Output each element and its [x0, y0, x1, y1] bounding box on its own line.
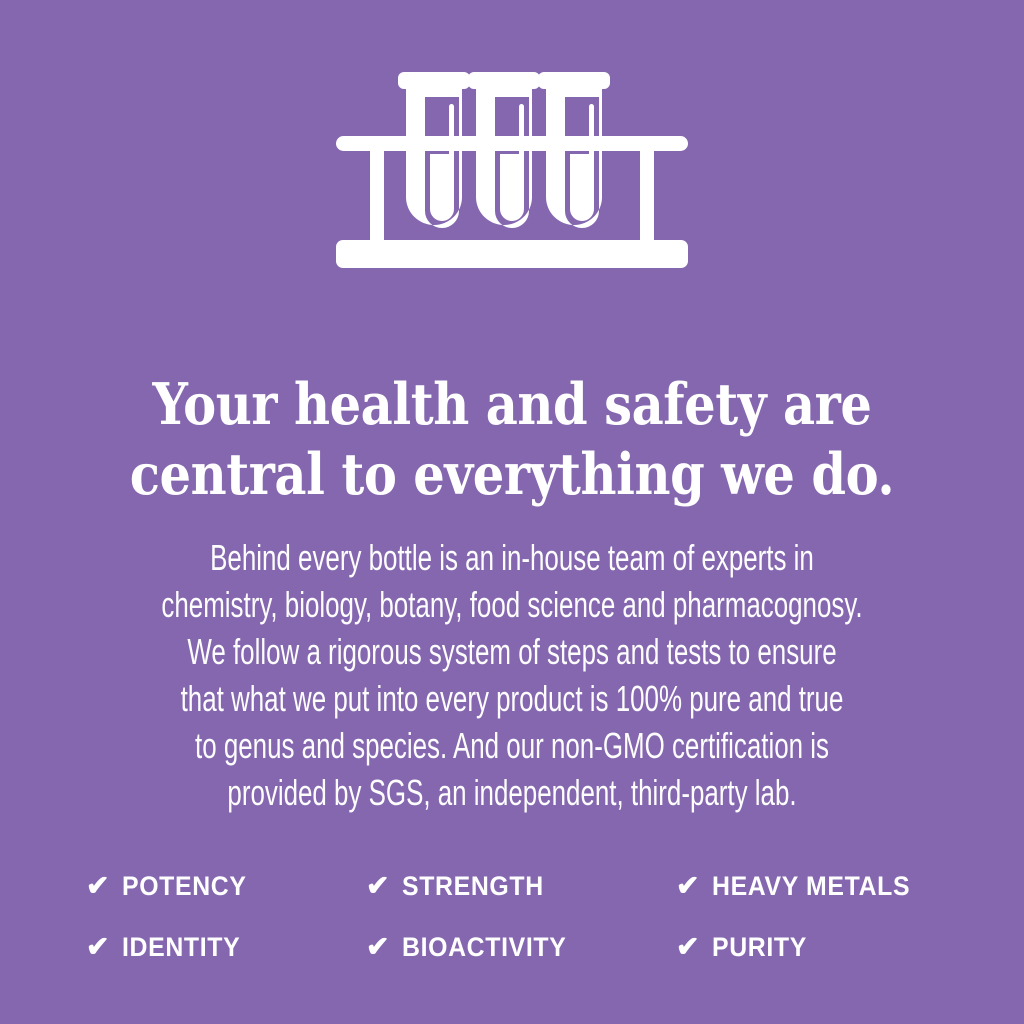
check-icon: ✔ — [676, 933, 699, 961]
checklist-item-bioactivity: ✔ BIOACTIVITY — [366, 932, 676, 963]
body-line-1: Behind every bottle is an in-house team … — [143, 534, 880, 581]
body-line-5: to genus and species. And our non-GMO ce… — [143, 722, 880, 769]
rack-top-rail — [336, 136, 688, 151]
promo-poster: Your health and safety are central to ev… — [0, 0, 1024, 1024]
check-icon: ✔ — [676, 872, 699, 900]
headline-line-2: central to everything we do. — [67, 440, 958, 510]
checklist-label: PURITY — [712, 932, 807, 963]
rack-leg-left — [370, 148, 384, 246]
body-line-2: chemistry, biology, botany, food science… — [143, 581, 880, 628]
check-icon: ✔ — [366, 933, 389, 961]
checklist-label: POTENCY — [122, 871, 247, 902]
body-line-4: that what we put into every product is 1… — [143, 675, 880, 722]
checklist-item-purity: ✔ PURITY — [676, 932, 966, 963]
check-icon: ✔ — [86, 933, 109, 961]
checklist-item-potency: ✔ POTENCY — [86, 871, 366, 902]
checklist-label: HEAVY METALS — [712, 871, 910, 902]
headline-line-1: Your health and safety are — [67, 370, 958, 440]
checklist-label: BIOACTIVITY — [402, 932, 566, 963]
check-icon: ✔ — [366, 872, 389, 900]
checklist-label: STRENGTH — [402, 871, 544, 902]
rack-base — [336, 240, 688, 268]
body-line-3: We follow a rigorous system of steps and… — [143, 628, 880, 675]
test-tube-rack-icon — [332, 62, 692, 268]
checklist-label: IDENTITY — [122, 932, 240, 963]
body-line-6: provided by SGS, an independent, third-p… — [143, 769, 880, 816]
testing-checklist: ✔ POTENCY ✔ STRENGTH ✔ HEAVY METALS ✔ ID… — [86, 856, 966, 978]
checklist-item-heavy-metals: ✔ HEAVY METALS — [676, 871, 966, 902]
checklist-item-identity: ✔ IDENTITY — [86, 932, 366, 963]
checklist-item-strength: ✔ STRENGTH — [366, 871, 676, 902]
body-paragraph: Behind every bottle is an in-house team … — [143, 534, 880, 816]
page-title: Your health and safety are central to ev… — [67, 370, 958, 510]
rack-leg-right — [640, 148, 654, 246]
check-icon: ✔ — [86, 872, 109, 900]
